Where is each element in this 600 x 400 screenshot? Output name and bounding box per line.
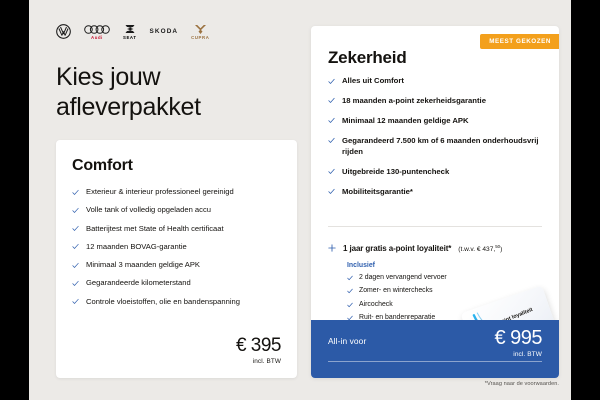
- check-icon: [347, 302, 353, 308]
- list-item-label: Gegarandeerde kilometerstand: [86, 278, 191, 289]
- left-column: Audi SEAT SKODA CUPRA: [29, 0, 304, 400]
- list-item: Volle tank of volledig opgeladen accu: [72, 205, 281, 216]
- screenshot-stage: Audi SEAT SKODA CUPRA: [0, 0, 600, 400]
- loyalty-header: 1 jaar gratis a-point loyaliteit* (t.w.v…: [328, 238, 548, 253]
- list-item-label: Gegarandeerd 7.500 km of 6 maanden onder…: [342, 136, 546, 158]
- list-item-label: Alles uit Comfort: [342, 76, 404, 87]
- comfort-title: Comfort: [72, 157, 281, 175]
- allin-price-block: € 995 incl. BTW: [494, 328, 542, 358]
- list-item: 12 maanden BOVAG-garantie: [72, 242, 281, 253]
- check-icon: [328, 168, 335, 175]
- list-item-label: Uitgebreide 130-puntencheck: [342, 167, 449, 178]
- divider: [328, 226, 542, 227]
- allin-rule: [328, 361, 542, 362]
- list-item: Gegarandeerde kilometerstand: [72, 278, 281, 289]
- list-item: Mobiliteitsgarantie*: [328, 187, 546, 198]
- allin-price-bar: All-in voor € 995 incl. BTW: [311, 320, 559, 378]
- skoda-logo-label: SKODA: [150, 26, 179, 38]
- plus-icon: [328, 239, 336, 247]
- footnote: *Vraag naar de voorwaarden.: [485, 381, 559, 387]
- comfort-price-value: € 395: [236, 336, 281, 355]
- check-icon: [328, 97, 335, 104]
- list-item-label: Mobiliteitsgarantie*: [342, 187, 413, 198]
- allin-price-value: € 995: [494, 328, 542, 348]
- list-item: Exterieur & interieur professioneel gere…: [72, 187, 281, 198]
- comfort-package-card[interactable]: Comfort Exterieur & interieur profession…: [56, 140, 297, 378]
- list-item: Alles uit Comfort: [328, 76, 546, 87]
- loyalty-value-prefix: (t.w.v. € 437,: [458, 246, 495, 253]
- volkswagen-logo: [56, 24, 71, 40]
- check-icon: [347, 288, 353, 294]
- list-item: Gegarandeerd 7.500 km of 6 maanden onder…: [328, 136, 546, 158]
- seat-logo-label: SEAT: [123, 36, 137, 40]
- list-item-label: Volle tank of volledig opgeladen accu: [86, 205, 211, 216]
- zekerheid-package-card[interactable]: MEEST GEKOZEN Zekerheid Alles uit Comfor…: [311, 26, 559, 378]
- list-item: Batterijtest met State of Health certifi…: [72, 224, 281, 235]
- cupra-logo: CUPRA: [191, 24, 209, 40]
- brand-logo-row: Audi SEAT SKODA CUPRA: [56, 22, 209, 42]
- comfort-price-note: incl. BTW: [236, 358, 281, 365]
- cupra-logo-label: CUPRA: [191, 36, 209, 40]
- list-item: Minimaal 3 maanden geldige APK: [72, 260, 281, 271]
- check-icon: [347, 275, 353, 281]
- status-badge: MEEST GEKOZEN: [480, 34, 559, 49]
- check-icon: [328, 188, 335, 195]
- comfort-price-block: € 395 incl. BTW: [236, 336, 281, 365]
- inclusief-label: Inclusief: [347, 262, 548, 269]
- check-icon: [72, 280, 79, 287]
- loyalty-section: 1 jaar gratis a-point loyaliteit* (t.w.v…: [328, 238, 548, 328]
- list-item-label: Zomer- en winterchecks: [359, 287, 433, 296]
- loyalty-value: (t.w.v. € 437,50): [458, 244, 502, 253]
- list-item-label: Minimaal 12 maanden geldige APK: [342, 116, 469, 127]
- skoda-logo: SKODA: [150, 26, 179, 38]
- list-item-label: Batterijtest met State of Health certifi…: [86, 224, 224, 235]
- check-icon: [72, 189, 79, 196]
- page-title: Kies jouw afleverpakket: [56, 62, 296, 122]
- promo-page: Audi SEAT SKODA CUPRA: [29, 0, 571, 400]
- loyalty-title: 1 jaar gratis a-point loyaliteit*: [343, 244, 451, 253]
- check-icon: [72, 207, 79, 214]
- list-item-label: Aircocheck: [359, 301, 393, 310]
- seat-logo: SEAT: [123, 23, 137, 40]
- list-item-label: Controle vloeistoffen, olie en bandenspa…: [86, 297, 240, 308]
- list-item-label: 2 dagen vervangend vervoer: [359, 274, 447, 283]
- check-icon: [328, 137, 335, 144]
- list-item: 18 maanden a-point zekerheidsgarantie: [328, 96, 546, 107]
- list-item-label: Minimaal 3 maanden geldige APK: [86, 260, 200, 271]
- check-icon: [72, 298, 79, 305]
- list-item: Uitgebreide 130-puntencheck: [328, 167, 546, 178]
- list-item-label: 12 maanden BOVAG-garantie: [86, 242, 187, 253]
- loyalty-value-suffix: ): [500, 246, 502, 253]
- allin-price-note: incl. BTW: [494, 351, 542, 358]
- list-item: Minimaal 12 maanden geldige APK: [328, 116, 546, 127]
- list-item: 2 dagen vervangend vervoer: [347, 274, 548, 283]
- audi-logo: Audi: [84, 24, 110, 40]
- zekerheid-title: Zekerheid: [328, 48, 407, 68]
- zekerheid-feature-list: Alles uit Comfort 18 maanden a-point zek…: [328, 76, 546, 207]
- list-item-label: Exterieur & interieur professioneel gere…: [86, 187, 234, 198]
- check-icon: [328, 117, 335, 124]
- allin-label: All-in voor: [328, 336, 366, 346]
- list-item: Controle vloeistoffen, olie en bandenspa…: [72, 297, 281, 308]
- check-icon: [72, 243, 79, 250]
- audi-logo-label: Audi: [91, 36, 103, 40]
- check-icon: [72, 262, 79, 269]
- check-icon: [328, 78, 335, 85]
- check-icon: [72, 225, 79, 232]
- comfort-feature-list: Exterieur & interieur professioneel gere…: [72, 187, 281, 307]
- list-item-label: 18 maanden a-point zekerheidsgarantie: [342, 96, 486, 107]
